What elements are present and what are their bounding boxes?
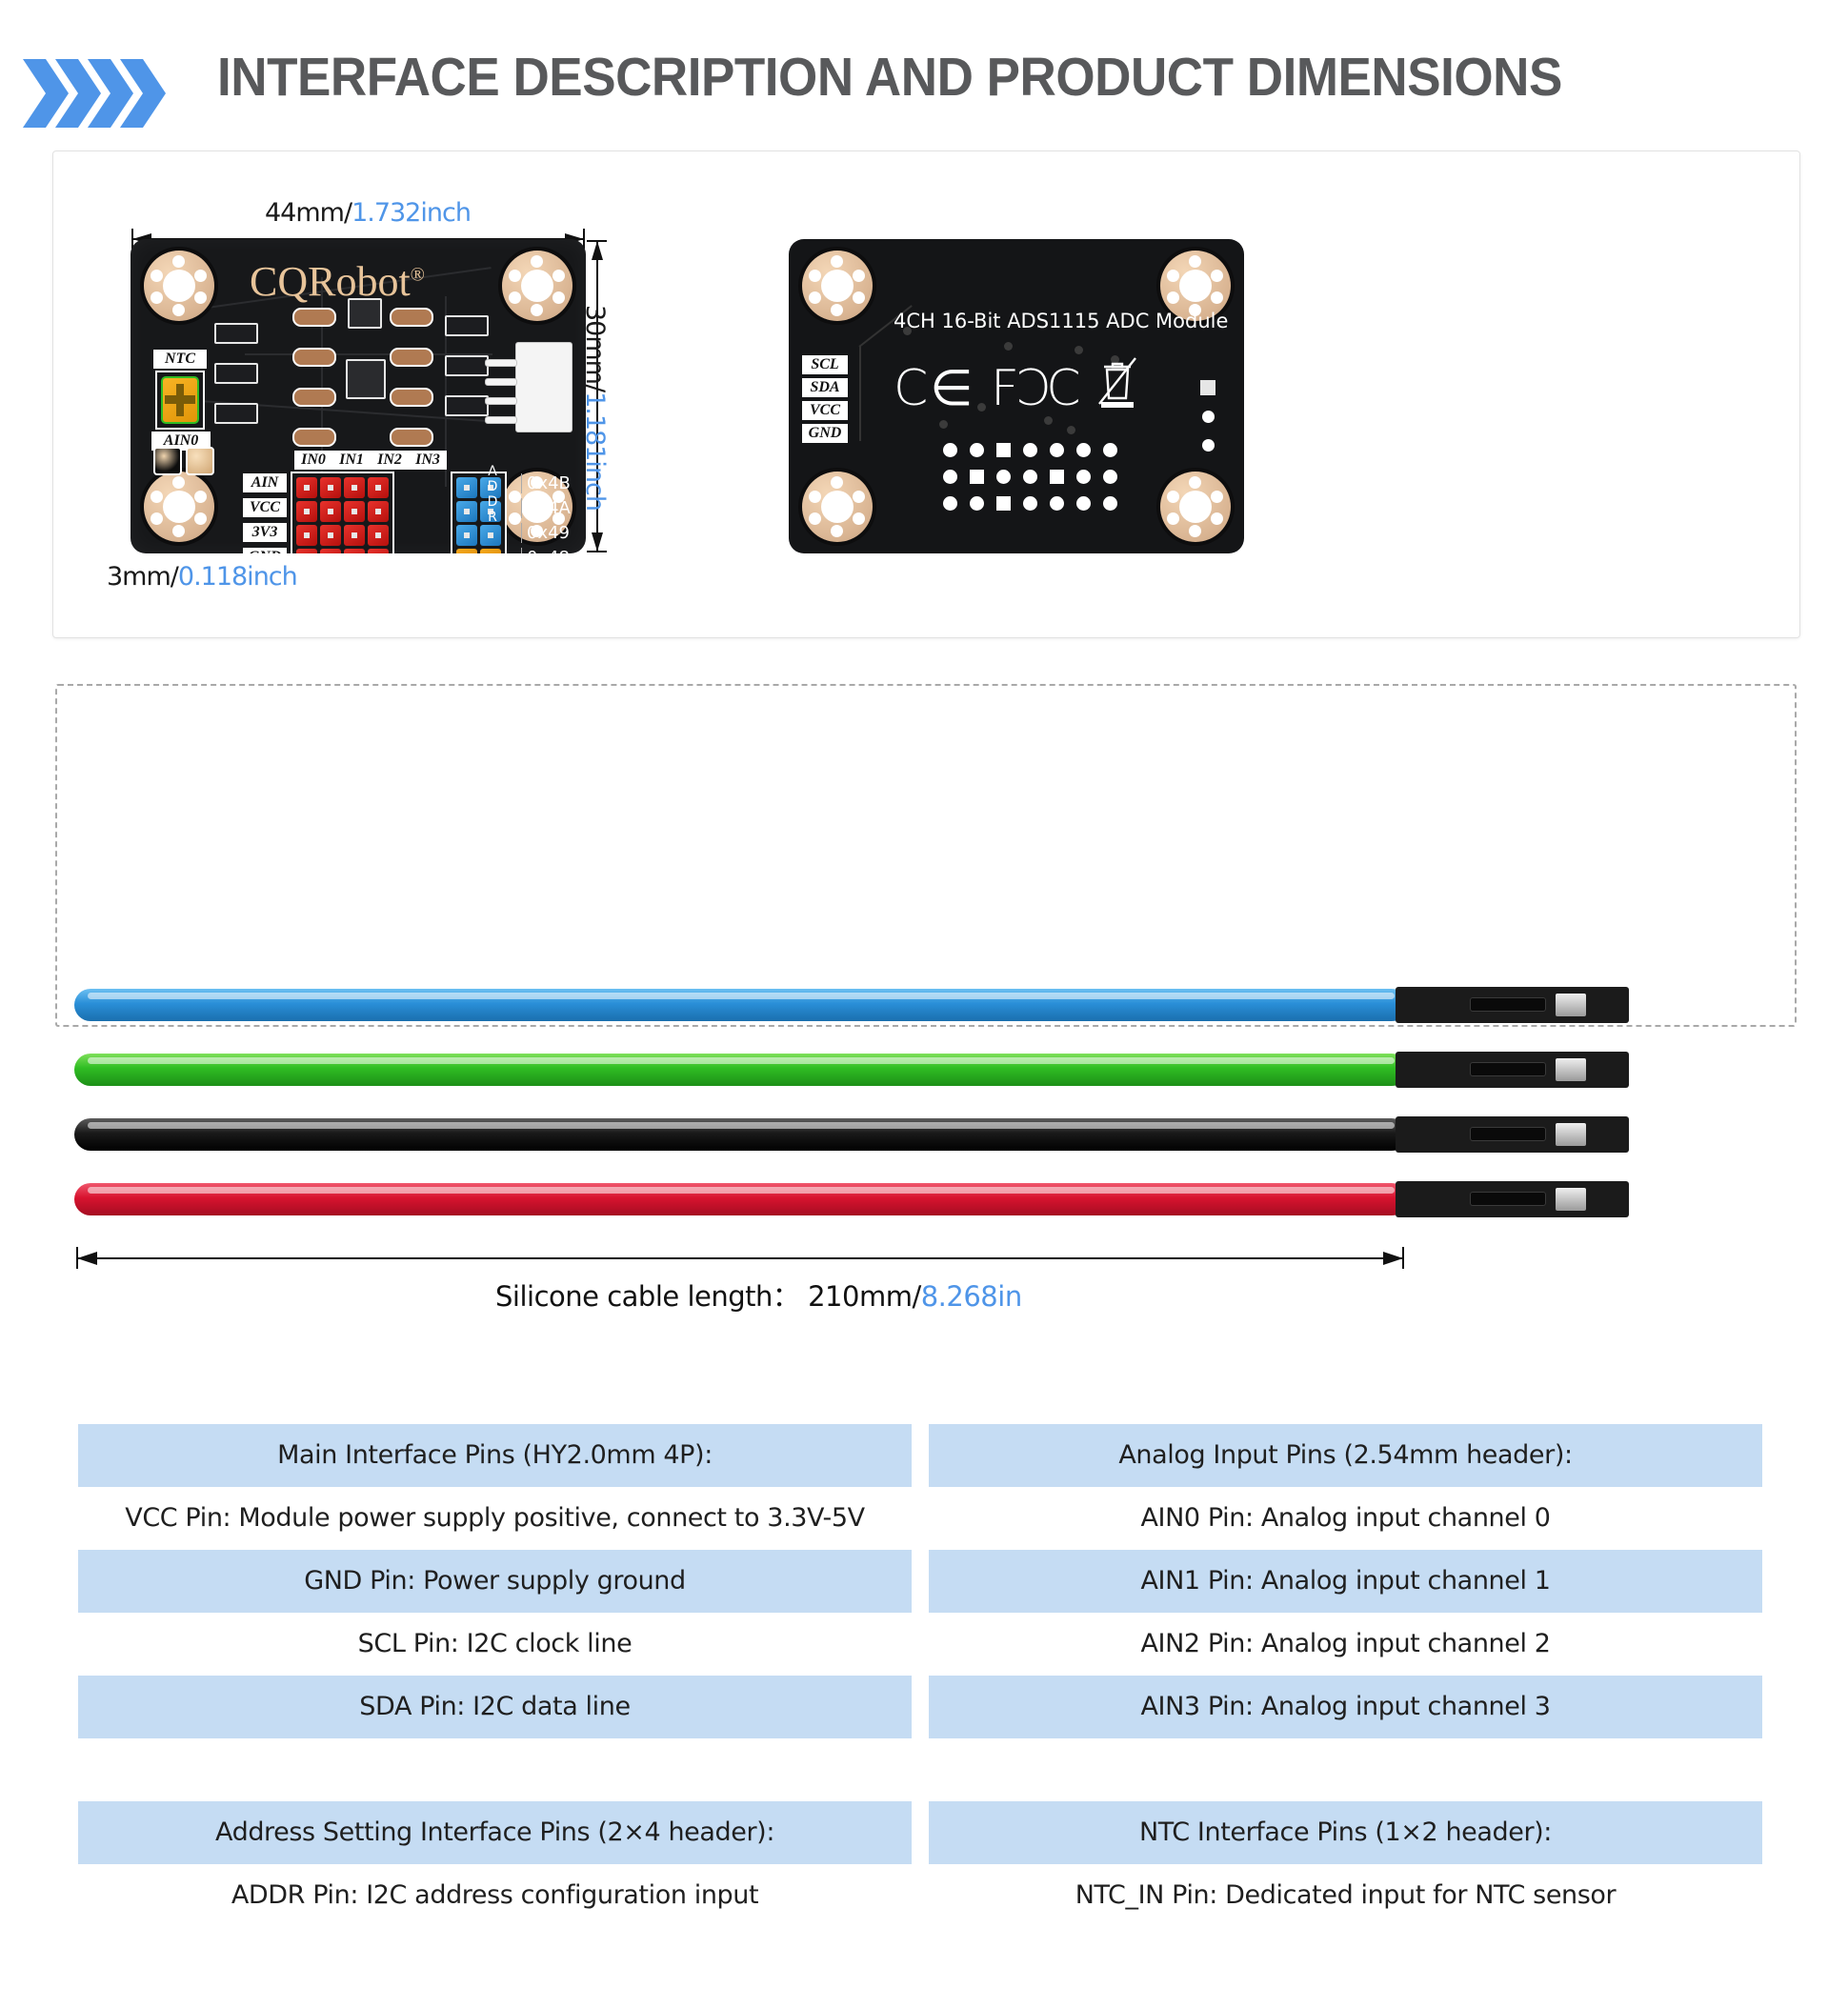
cable-length-arrow [74, 1246, 1408, 1269]
thickness-inch: 0.118inch [178, 562, 297, 592]
width-dimension-label: 44mm/1.732inch [265, 198, 471, 228]
back-silkscreen-sda: SDA [802, 378, 848, 397]
table-row: AIN2 Pin: Analog input channel 2 [929, 1613, 1762, 1676]
table-row: NTC_IN Pin: Dedicated input for NTC sens… [929, 1864, 1762, 1927]
table-row: GND Pin: Power supply ground [78, 1550, 912, 1613]
cable-length-label: Silicone cable length： 210mm/8.268in [495, 1275, 1022, 1315]
wire-black [74, 1118, 1408, 1151]
cable-length-text: Silicone cable length： [495, 1280, 799, 1313]
silkscreen-ain: AIN [243, 473, 287, 492]
table-row: AIN3 Pin: Analog input channel 3 [929, 1676, 1762, 1738]
silkscreen-vcc: VCC [243, 498, 287, 517]
brand-name: CQRobot [250, 258, 411, 305]
silkscreen-addr-0x4b: 0x4B [521, 473, 571, 493]
silkscreen-3v3: 3V3 [243, 523, 287, 542]
table-row-spacer [78, 1738, 912, 1801]
wire-red [74, 1183, 1408, 1215]
dupont-connector-blue [1396, 987, 1629, 1023]
registered-mark: ® [411, 264, 425, 285]
analog-input-header [291, 472, 394, 553]
back-silkscreen-scl: SCL [802, 355, 848, 374]
table-row: Main Interface Pins (HY2.0mm 4P): [78, 1424, 912, 1487]
wire-green [74, 1054, 1408, 1086]
back-mounting-hole-bottom-left [802, 472, 873, 542]
silkscreen-gnd: GND [243, 548, 287, 553]
table-row: SDA Pin: I2C data line [78, 1676, 912, 1738]
dupont-connector-red [1396, 1181, 1629, 1217]
board-back-title: 4CH 16-Bit ADS1115 ADC Module [894, 310, 1228, 332]
dupont-connector-green [1396, 1052, 1629, 1088]
brand-logo: CQRobot® [250, 257, 425, 306]
thickness-dimension-label: 3mm/0.118inch [107, 562, 297, 592]
table-row-spacer [929, 1738, 1762, 1801]
table-row: Address Setting Interface Pins (2×4 head… [78, 1801, 912, 1864]
ce-mark-icon: C∈ [894, 360, 975, 417]
silkscreen-in3: IN3 [409, 451, 447, 470]
silkscreen-addr-group: ADDR [485, 464, 500, 525]
width-mm: 44mm/ [265, 198, 352, 228]
cable-length-mm: 210mm/ [808, 1280, 921, 1313]
back-mounting-hole-top-left [802, 251, 873, 321]
mounting-hole-top-right [502, 251, 572, 321]
silkscreen-in1: IN1 [332, 451, 371, 470]
table-row: SCL Pin: I2C clock line [78, 1613, 912, 1676]
silkscreen-ntc: NTC [153, 350, 207, 369]
table-row: Analog Input Pins (2.54mm header): [929, 1424, 1762, 1487]
silkscreen-addr-0x48: 0x48 [521, 548, 570, 553]
right-pin-table: Analog Input Pins (2.54mm header): AIN0 … [929, 1424, 1762, 1927]
silkscreen-addr-0x4a: 0x4A [521, 498, 571, 518]
mounting-hole-bottom-left [144, 472, 214, 542]
page-header: INTERFACE DESCRIPTION AND PRODUCT DIMENS… [0, 38, 1848, 143]
mounting-hole-top-left [144, 251, 214, 321]
table-row: VCC Pin: Module power supply positive, c… [78, 1487, 912, 1550]
back-silkscreen-gnd: GND [802, 424, 848, 443]
ntc-jumper-header [155, 371, 205, 430]
wire-blue [74, 989, 1408, 1021]
back-silkscreen-vcc: VCC [802, 401, 848, 420]
table-row: AIN0 Pin: Analog input channel 0 [929, 1487, 1762, 1550]
fcc-mark-icon: FƆC [991, 360, 1077, 417]
table-row: AIN1 Pin: Analog input channel 1 [929, 1550, 1762, 1613]
chevron-decoration-icon [21, 55, 183, 131]
cable-panel [55, 684, 1797, 1027]
dupont-connector-black [1396, 1116, 1629, 1153]
back-mounting-hole-bottom-right [1160, 472, 1231, 542]
silkscreen-in0: IN0 [294, 451, 332, 470]
weee-bin-icon [1097, 356, 1137, 410]
cable-length-in: 8.268in [921, 1280, 1022, 1313]
page-title: INTERFACE DESCRIPTION AND PRODUCT DIMENS… [217, 46, 1562, 109]
silkscreen-in2: IN2 [371, 451, 409, 470]
table-row: NTC Interface Pins (1×2 header): [929, 1801, 1762, 1864]
silkscreen-addr-0x49: 0x49 [521, 523, 570, 543]
width-inch: 1.732inch [352, 198, 471, 228]
table-row: ADDR Pin: I2C address configuration inpu… [78, 1864, 912, 1927]
thickness-mm: 3mm/ [107, 562, 178, 592]
left-pin-table: Main Interface Pins (HY2.0mm 4P): VCC Pi… [78, 1424, 912, 1927]
